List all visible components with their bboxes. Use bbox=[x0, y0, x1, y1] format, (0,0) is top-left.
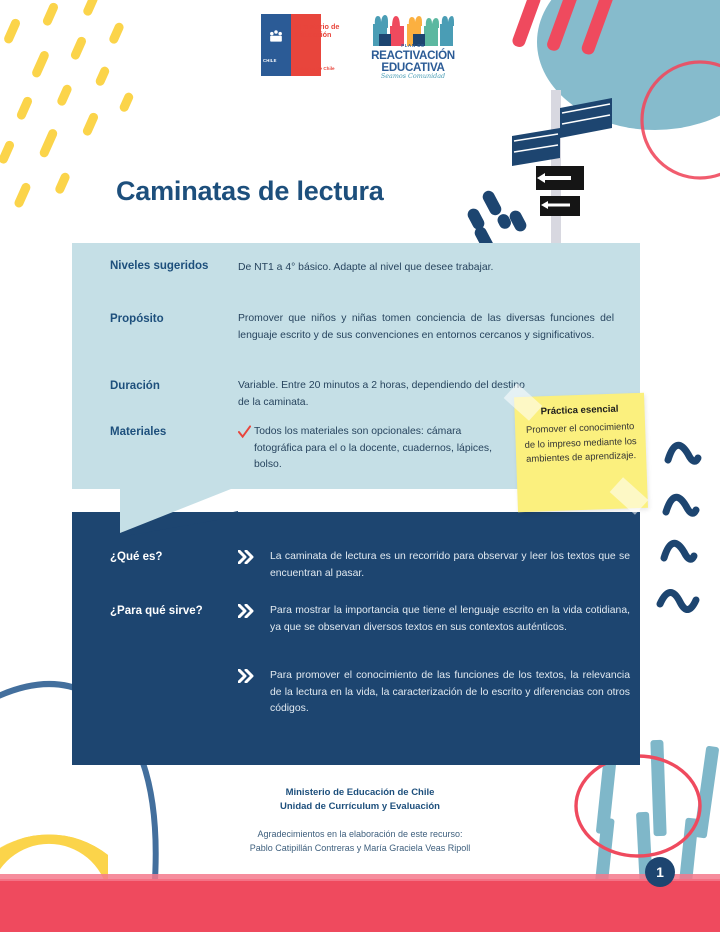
info-value-niveles: De NT1 a 4° básico. Adapte al nivel que … bbox=[238, 258, 614, 277]
double-chevron-icon bbox=[238, 550, 255, 564]
footer-org-line1: Ministerio de Educación de Chile bbox=[0, 786, 720, 800]
page-root: CHILE Ministerio de Educación Gobierno d… bbox=[0, 0, 720, 932]
reactivacion-tagline: Seamos Comunidad bbox=[367, 72, 459, 80]
footer-organization: Ministerio de Educación de Chile Unidad … bbox=[0, 786, 720, 813]
info-label-niveles: Niveles sugeridos bbox=[110, 258, 238, 277]
info-row-proposito: Propósito Promover que niños y niñas tom… bbox=[110, 311, 630, 344]
info-value-duracion: Variable. Entre 20 minutos a 2 horas, de… bbox=[238, 378, 538, 411]
bottom-red-band-edge bbox=[0, 874, 720, 881]
detail-label-para-que-sirve: ¿Para qué sirve? bbox=[110, 603, 238, 636]
raised-hands-icon bbox=[371, 14, 455, 46]
star-icon bbox=[265, 27, 287, 47]
reactivacion-educativa-logo: PLAN DE REACTIVACIÓN EDUCATIVA Seamos Co… bbox=[367, 14, 459, 80]
detail-label-que-es: ¿Qué es? bbox=[110, 549, 238, 582]
detail-row-para-que-sirve-second: Para promover el conocimiento de las fun… bbox=[238, 668, 630, 718]
reactivacion-title-line1: REACTIVACIÓN bbox=[367, 50, 459, 62]
page-title: Caminatas de lectura bbox=[116, 176, 384, 207]
blue-squiggles-decoration bbox=[660, 445, 698, 609]
chile-flag-blue: CHILE bbox=[261, 14, 291, 76]
ministry-government-text: Gobierno de Chile bbox=[295, 66, 347, 71]
footer-credit-line2: Pablo Catipillán Contreras y María Graci… bbox=[0, 842, 720, 856]
ministry-flag-text: CHILE bbox=[263, 58, 289, 63]
sticky-note-body: Promover el conocimiento de lo impreso m… bbox=[523, 419, 638, 466]
info-label-duracion: Duración bbox=[110, 378, 238, 411]
info-value-proposito: Promover que niños y niñas tomen concien… bbox=[238, 311, 614, 344]
footer-org-line2: Unidad de Currículum y Evaluación bbox=[0, 800, 720, 814]
checkmark-icon bbox=[238, 425, 251, 439]
detail-text-para-que-sirve-2: Para promover el conocimiento de las fun… bbox=[270, 668, 630, 718]
header-logos: CHILE Ministerio de Educación Gobierno d… bbox=[0, 14, 720, 80]
double-chevron-icon bbox=[238, 669, 255, 683]
page-number-badge: 1 bbox=[645, 857, 675, 887]
detail-row-para-que-sirve: ¿Para qué sirve? Para mostrar la importa… bbox=[110, 603, 630, 636]
info-label-materiales: Materiales bbox=[110, 424, 238, 474]
detail-row-que-es: ¿Qué es? La caminata de lectura es un re… bbox=[110, 549, 630, 582]
ministry-logo-text: Ministerio de Educación bbox=[295, 23, 347, 40]
info-label-proposito: Propósito bbox=[110, 311, 238, 344]
ministry-of-education-logo: CHILE Ministerio de Educación Gobierno d… bbox=[261, 14, 349, 76]
detail-text-que-es: La caminata de lectura es un recorrido p… bbox=[270, 549, 630, 582]
double-chevron-icon bbox=[238, 604, 255, 618]
ministry-logo-line2: Educación bbox=[295, 31, 347, 39]
info-row-niveles: Niveles sugeridos De NT1 a 4° básico. Ad… bbox=[110, 258, 630, 277]
detail-text-para-que-sirve-1: Para mostrar la importancia que tiene el… bbox=[270, 603, 630, 636]
footer-credits: Agradecimientos en la elaboración de est… bbox=[0, 828, 720, 855]
info-value-materiales: Todos los materiales son opcionales: cám… bbox=[254, 424, 500, 474]
bottom-red-band bbox=[0, 879, 720, 932]
footer-credit-line1: Agradecimientos en la elaboración de est… bbox=[0, 828, 720, 842]
reactivacion-plan-text: PLAN DE bbox=[367, 43, 459, 48]
